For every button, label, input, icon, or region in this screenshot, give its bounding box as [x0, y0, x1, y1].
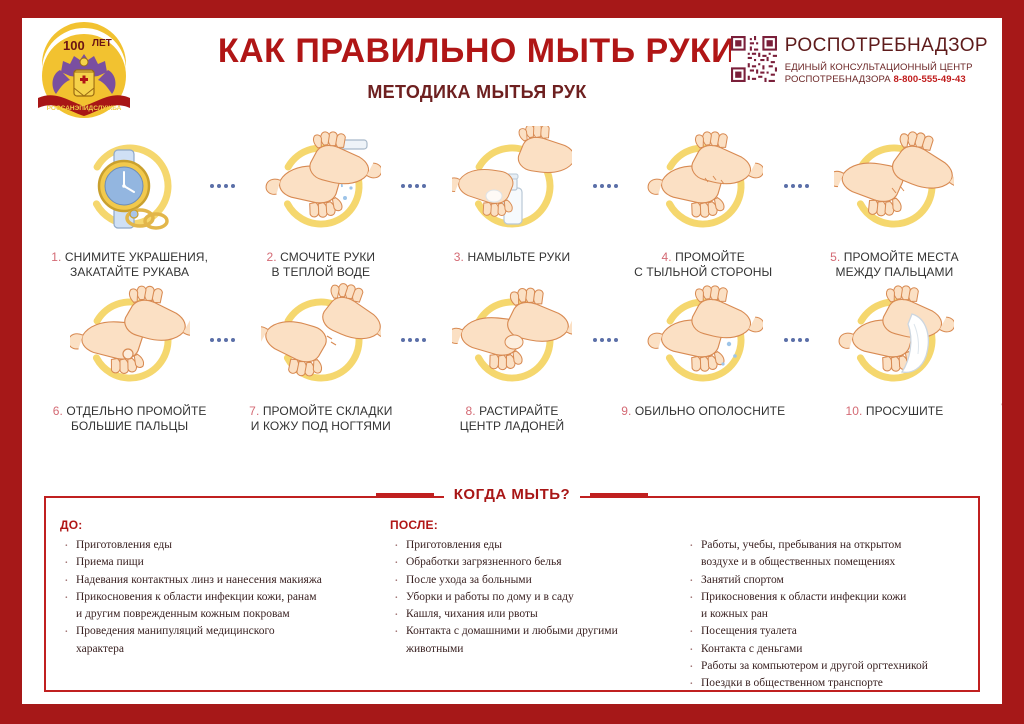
- step-caption: 2. СМОЧИТЕ РУКИ В ТЕПЛОЙ ВОДЕ: [262, 250, 379, 280]
- step-text: ПРОМОЙТЕ МЕСТА МЕЖДУ ПАЛЬЦАМИ: [835, 250, 958, 279]
- step-caption: 8. РАСТИРАЙТЕ ЦЕНТР ЛАДОНЕЙ: [456, 404, 569, 434]
- step-text: СМОЧИТЕ РУКИ В ТЕПЛОЙ ВОДЕ: [272, 250, 376, 279]
- nails-illustration: [225, 280, 416, 398]
- list-item: Обработки загрязненного белья: [390, 554, 679, 571]
- list-item: Поездки в общественном транспорте: [685, 675, 958, 692]
- divider-right: [590, 493, 648, 497]
- before-column: ДО: Приготовления едыПриема пищиНадевани…: [60, 518, 390, 680]
- step-caption: 6. ОТДЕЛЬНО ПРОМОЙТЕ БОЛЬШИЕ ПАЛЬЦЫ: [49, 404, 211, 434]
- brand-consult-line2: РОСПОТРЕБНАДЗОРА 8-800-555-49-43: [785, 74, 988, 86]
- rospotrebnadzor-100-years-logo-icon: 100 ЛЕТ РОССАНЭПИДСЛУЖБА: [30, 20, 138, 124]
- step-number: 6.: [53, 404, 67, 418]
- step-separator-dots-icon: [210, 338, 235, 342]
- when-to-wash-box: КОГДА МЫТЬ? ДО: Приготовления едыПриема …: [44, 496, 980, 692]
- step-1: 1. СНИМИТЕ УКРАШЕНИЯ, ЗАКАТАЙТЕ РУКАВА: [34, 126, 225, 280]
- step-caption: 1. СНИМИТЕ УКРАШЕНИЯ, ЗАКАТАЙТЕ РУКАВА: [47, 250, 212, 280]
- list-item: Приготовления еды: [390, 537, 679, 554]
- poster-sheet: 100 ЛЕТ РОССАНЭПИДСЛУЖБА КАК ПРАВИЛЬНО М…: [22, 18, 1002, 704]
- step-separator-dots-icon: [593, 184, 618, 188]
- step-caption: 9. ОБИЛЬНО ОПОЛОСНИТЕ: [617, 404, 789, 419]
- step-text: НАМЫЛЬТЕ РУКИ: [467, 250, 570, 264]
- step-text: ПРОСУШИТЕ: [866, 404, 943, 418]
- after-list-continued: Работы, учебы, пребывания на открытом во…: [685, 537, 958, 692]
- step-number: 2.: [266, 250, 280, 264]
- step-number: 10.: [845, 404, 865, 418]
- brand-consult-org: РОСПОТРЕБНАДЗОРА: [785, 74, 891, 85]
- list-item: Прикосновения к области инфекции кожи, р…: [60, 589, 384, 624]
- step-caption: 10. ПРОСУШИТЕ: [841, 404, 947, 419]
- when-title: КОГДА МЫТЬ?: [444, 486, 580, 503]
- back-of-hands-illustration: [608, 126, 799, 244]
- list-item: Занятий спортом: [685, 572, 958, 589]
- page-subtitle: МЕТОДИКА МЫТЬЯ РУК: [172, 82, 782, 103]
- after-column: ПОСЛЕ: Приготовления едыОбработки загряз…: [390, 518, 685, 680]
- list-item: Проведения манипуляций медицинского хара…: [60, 623, 384, 658]
- list-item: Кашля, чихания или рвоты: [390, 606, 679, 623]
- steps-row-1: 1. СНИМИТЕ УКРАШЕНИЯ, ЗАКАТАЙТЕ РУКАВА2.…: [34, 126, 990, 280]
- step-number: 5.: [830, 250, 844, 264]
- watch-and-rings-illustration: [34, 126, 225, 244]
- step-separator-dots-icon: [401, 184, 426, 188]
- after-column-continued: Работы, учебы, пребывания на открытом во…: [685, 518, 964, 680]
- list-item: Работы за компьютером и другой оргтехник…: [685, 658, 958, 675]
- soap-dispenser-illustration: [416, 126, 607, 244]
- step-number: 7.: [249, 404, 263, 418]
- website-side-note: Подробнее на www.rospotrebnadzor.ru: [1000, 254, 1002, 434]
- step-number: 4.: [661, 250, 675, 264]
- brand-consult-line1: ЕДИНЫЙ КОНСУЛЬТАЦИОННЫЙ ЦЕНТР: [785, 62, 988, 74]
- svg-text:ЛЕТ: ЛЕТ: [92, 38, 112, 49]
- thumbs-illustration: [34, 280, 225, 398]
- list-item: Приема пищи: [60, 554, 384, 571]
- step-6: 6. ОТДЕЛЬНО ПРОМОЙТЕ БОЛЬШИЕ ПАЛЬЦЫ: [34, 280, 225, 434]
- svg-text:100: 100: [63, 38, 85, 53]
- poster-frame: 100 ЛЕТ РОССАНЭПИДСЛУЖБА КАК ПРАВИЛЬНО М…: [0, 0, 1024, 724]
- hands-under-faucet-illustration: [225, 126, 416, 244]
- step-separator-dots-icon: [784, 184, 809, 188]
- rinse-illustration: [608, 280, 799, 398]
- before-heading: ДО:: [60, 518, 384, 532]
- page-title: КАК ПРАВИЛЬНО МЫТЬ РУКИ: [172, 34, 782, 70]
- step-text: ПРОМОЙТЕ СКЛАДКИ И КОЖУ ПОД НОГТЯМИ: [251, 404, 393, 433]
- title-block: КАК ПРАВИЛЬНО МЫТЬ РУКИ МЕТОДИКА МЫТЬЯ Р…: [172, 34, 782, 103]
- steps-row-2: 6. ОТДЕЛЬНО ПРОМОЙТЕ БОЛЬШИЕ ПАЛЬЦЫ7. ПР…: [34, 280, 990, 434]
- divider-left: [376, 493, 434, 497]
- svg-text:РОССАНЭПИДСЛУЖБА: РОССАНЭПИДСЛУЖБА: [47, 105, 122, 112]
- list-item: Контакта с деньгами: [685, 641, 958, 658]
- qr-code-icon: [731, 36, 777, 82]
- step-caption: 7. ПРОМОЙТЕ СКЛАДКИ И КОЖУ ПОД НОГТЯМИ: [245, 404, 396, 434]
- step-4: 4. ПРОМОЙТЕ С ТЫЛЬНОЙ СТОРОНЫ: [608, 126, 799, 280]
- step-number: 3.: [454, 250, 468, 264]
- step-separator-dots-icon: [593, 338, 618, 342]
- step-9: 9. ОБИЛЬНО ОПОЛОСНИТЕ: [608, 280, 799, 419]
- after-heading-spacer: [685, 518, 958, 532]
- list-item: Уборки и работы по дому и в саду: [390, 589, 679, 606]
- step-text: ОТДЕЛЬНО ПРОМОЙТЕ БОЛЬШИЕ ПАЛЬЦЫ: [66, 404, 206, 433]
- step-caption: 5. ПРОМОЙТЕ МЕСТА МЕЖДУ ПАЛЬЦАМИ: [826, 250, 963, 280]
- step-text: СНИМИТЕ УКРАШЕНИЯ, ЗАКАТАЙТЕ РУКАВА: [65, 250, 208, 279]
- step-separator-dots-icon: [784, 338, 809, 342]
- brand-block: РОСПОТРЕБНАДЗОР ЕДИНЫЙ КОНСУЛЬТАЦИОННЫЙ …: [731, 34, 988, 86]
- step-3: 3. НАМЫЛЬТЕ РУКИ: [416, 126, 607, 265]
- step-separator-dots-icon: [210, 184, 235, 188]
- step-separator-dots-icon: [401, 338, 426, 342]
- step-5: 5. ПРОМОЙТЕ МЕСТА МЕЖДУ ПАЛЬЦАМИ: [799, 126, 990, 280]
- brand-text: РОСПОТРЕБНАДЗОР ЕДИНЫЙ КОНСУЛЬТАЦИОННЫЙ …: [785, 34, 988, 86]
- step-number: 8.: [466, 404, 480, 418]
- between-fingers-illustration: [799, 126, 990, 244]
- when-title-bar: КОГДА МЫТЬ?: [46, 486, 978, 503]
- dry-towel-illustration: [799, 280, 990, 398]
- after-list: Приготовления едыОбработки загрязненного…: [390, 537, 679, 658]
- list-item: Посещения туалета: [685, 623, 958, 640]
- hotline-phone: 8-800-555-49-43: [893, 74, 965, 85]
- poster-header: 100 ЛЕТ РОССАНЭПИДСЛУЖБА КАК ПРАВИЛЬНО М…: [22, 18, 1002, 126]
- palms-illustration: [416, 280, 607, 398]
- step-number: 9.: [621, 404, 635, 418]
- step-7: 7. ПРОМОЙТЕ СКЛАДКИ И КОЖУ ПОД НОГТЯМИ: [225, 280, 416, 434]
- step-caption: 4. ПРОМОЙТЕ С ТЫЛЬНОЙ СТОРОНЫ: [630, 250, 776, 280]
- list-item: Работы, учебы, пребывания на открытом во…: [685, 537, 958, 572]
- step-8: 8. РАСТИРАЙТЕ ЦЕНТР ЛАДОНЕЙ: [416, 280, 607, 434]
- list-item: Контакта с домашними и любыми другими жи…: [390, 623, 679, 658]
- list-item: После ухода за больными: [390, 572, 679, 589]
- step-text: ОБИЛЬНО ОПОЛОСНИТЕ: [635, 404, 785, 418]
- step-text: ПРОМОЙТЕ С ТЫЛЬНОЙ СТОРОНЫ: [634, 250, 772, 279]
- list-item: Надевания контактных линз и нанесения ма…: [60, 572, 384, 589]
- step-2: 2. СМОЧИТЕ РУКИ В ТЕПЛОЙ ВОДЕ: [225, 126, 416, 280]
- before-list: Приготовления едыПриема пищиНадевания ко…: [60, 537, 384, 658]
- after-heading: ПОСЛЕ:: [390, 518, 679, 532]
- step-number: 1.: [51, 250, 65, 264]
- steps-section: 1. СНИМИТЕ УКРАШЕНИЯ, ЗАКАТАЙТЕ РУКАВА2.…: [22, 126, 1002, 434]
- brand-name: РОСПОТРЕБНАДЗОР: [785, 34, 988, 58]
- when-to-wash-section: КОГДА МЫТЬ? ДО: Приготовления едыПриема …: [44, 496, 980, 692]
- list-item: Приготовления еды: [60, 537, 384, 554]
- step-10: 10. ПРОСУШИТЕ: [799, 280, 990, 419]
- list-item: Прикосновения к области инфекции кожи и …: [685, 589, 958, 624]
- when-columns: ДО: Приготовления едыПриема пищиНадевани…: [60, 518, 964, 680]
- step-caption: 3. НАМЫЛЬТЕ РУКИ: [450, 250, 574, 265]
